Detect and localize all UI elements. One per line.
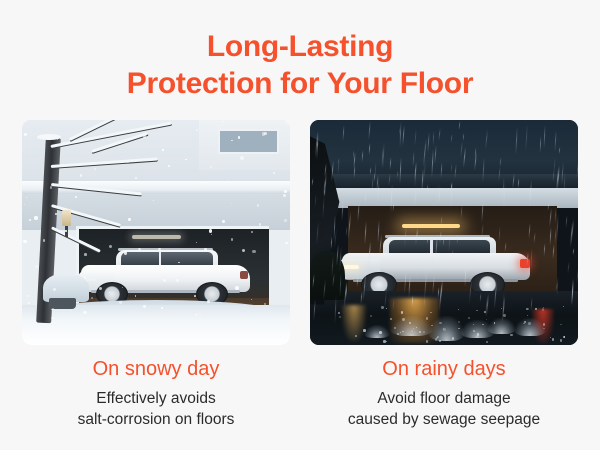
snowflake xyxy=(168,165,170,167)
snowflake xyxy=(135,295,136,296)
snowflake xyxy=(124,251,128,255)
snowflake xyxy=(55,213,56,214)
raindrop xyxy=(370,167,371,175)
garage-ceiling-light xyxy=(402,224,461,229)
raindrop xyxy=(572,248,574,255)
snowflake xyxy=(240,156,244,160)
snowflake xyxy=(158,248,161,251)
snowflake xyxy=(284,219,287,222)
water-droplet xyxy=(476,336,479,339)
water-droplet xyxy=(486,319,487,320)
image-panels xyxy=(22,120,578,345)
caption-body-rainy: Avoid floor damage caused by sewage seep… xyxy=(310,388,578,430)
rainy-day-image xyxy=(310,120,578,345)
water-droplet xyxy=(409,322,411,324)
caption-body-snowy-line-1: Effectively avoids xyxy=(22,388,290,409)
rain-roofline xyxy=(310,174,578,188)
water-droplet xyxy=(411,330,413,332)
water-droplet xyxy=(400,332,401,333)
snowflake xyxy=(209,229,212,232)
suv-taillight xyxy=(520,259,529,268)
snowflake xyxy=(283,194,286,197)
snowflake xyxy=(24,133,27,136)
snow-covered-driveway xyxy=(22,305,290,346)
headline-line-2: Protection for Your Floor xyxy=(0,65,600,102)
snowflake xyxy=(273,172,275,174)
snowy-scene-illustration xyxy=(22,120,290,345)
snowflake xyxy=(204,248,207,251)
garage-ceiling-light xyxy=(132,235,181,239)
snowflake xyxy=(35,265,38,268)
raindrop xyxy=(377,182,379,201)
snowflake xyxy=(94,168,96,170)
raindrop xyxy=(539,136,541,153)
rainy-scene-illustration xyxy=(310,120,578,345)
raindrop xyxy=(412,295,413,304)
water-droplet xyxy=(526,308,528,310)
snowflake xyxy=(207,300,210,303)
snowy-day-image xyxy=(22,120,290,345)
water-droplet xyxy=(439,340,440,341)
raindrop xyxy=(440,162,442,178)
water-droplet xyxy=(527,315,528,316)
raindrop xyxy=(566,215,568,228)
raindrop xyxy=(361,150,363,162)
suv-headlight xyxy=(342,265,359,269)
caption-body-snowy-line-2: salt-corrosion on floors xyxy=(22,409,290,430)
snow-wall-lamp xyxy=(62,210,71,226)
page-title: Long-Lasting Protection for Your Floor xyxy=(0,28,600,102)
water-droplet xyxy=(458,328,459,329)
water-droplet xyxy=(528,322,531,325)
water-droplet xyxy=(458,321,460,323)
promo-banner: Long-Lasting Protection for Your Floor xyxy=(0,0,600,450)
snowflake xyxy=(176,279,179,282)
snow-house-window xyxy=(218,129,280,154)
captions-row: On snowy day Effectively avoids salt-cor… xyxy=(22,356,578,430)
water-droplet xyxy=(379,331,382,334)
snowflake xyxy=(65,230,66,231)
snowflake xyxy=(109,245,112,248)
caption-rainy: On rainy days Avoid floor damage caused … xyxy=(310,356,578,430)
snowflake xyxy=(211,234,212,235)
snowflake xyxy=(29,219,31,221)
water-droplet xyxy=(550,337,551,338)
water-droplet xyxy=(560,324,561,325)
snowflake xyxy=(27,295,30,298)
water-droplet xyxy=(370,315,372,317)
water-droplet xyxy=(386,341,387,342)
snowflake xyxy=(43,239,45,241)
raindrop xyxy=(576,163,578,178)
raindrop xyxy=(576,268,578,284)
water-droplet xyxy=(473,330,475,332)
snowflake xyxy=(128,218,131,221)
snowflake xyxy=(28,302,30,304)
water-droplet xyxy=(510,334,512,336)
white-suv-snow xyxy=(81,246,250,305)
snowflake xyxy=(83,311,87,315)
water-droplet xyxy=(355,335,357,337)
caption-title-snowy: On snowy day xyxy=(22,356,290,382)
snowflake xyxy=(162,149,163,150)
water-droplet xyxy=(564,336,566,338)
snowflake xyxy=(34,216,37,219)
snowflake xyxy=(50,186,53,189)
raindrop xyxy=(331,236,333,250)
snowflake xyxy=(99,287,102,290)
snowflake xyxy=(235,286,239,290)
suv-taillight xyxy=(240,271,248,279)
snowflake xyxy=(286,121,289,124)
snowflake xyxy=(231,238,234,241)
raindrop xyxy=(392,201,394,212)
snowflake xyxy=(53,288,56,291)
snowflake xyxy=(194,295,196,297)
snowflake xyxy=(119,301,122,304)
water-droplet xyxy=(435,338,437,340)
caption-body-rainy-line-2: caused by sewage seepage xyxy=(310,409,578,430)
water-droplet xyxy=(552,338,554,340)
snowflake xyxy=(23,240,26,243)
snowflake xyxy=(84,277,86,279)
snowflake xyxy=(195,313,198,316)
headline-line-1: Long-Lasting xyxy=(0,28,600,65)
water-splash-burst xyxy=(514,318,546,336)
caption-body-snowy: Effectively avoids salt-corrosion on flo… xyxy=(22,388,290,430)
raindrop xyxy=(427,236,428,244)
snowflake xyxy=(80,174,83,177)
caption-body-rainy-line-1: Avoid floor damage xyxy=(310,388,578,409)
snowflake xyxy=(285,242,288,245)
caption-title-rainy: On rainy days xyxy=(310,356,578,382)
caption-snowy: On snowy day Effectively avoids salt-cor… xyxy=(22,356,290,430)
water-droplet xyxy=(423,331,425,333)
water-droplet xyxy=(363,329,366,332)
snowflake xyxy=(143,305,146,308)
raindrop xyxy=(568,261,570,274)
water-droplet xyxy=(397,333,398,334)
water-splash-burst xyxy=(364,325,391,339)
water-droplet xyxy=(486,341,488,343)
snowflake xyxy=(257,204,259,206)
raindrop xyxy=(456,234,457,244)
